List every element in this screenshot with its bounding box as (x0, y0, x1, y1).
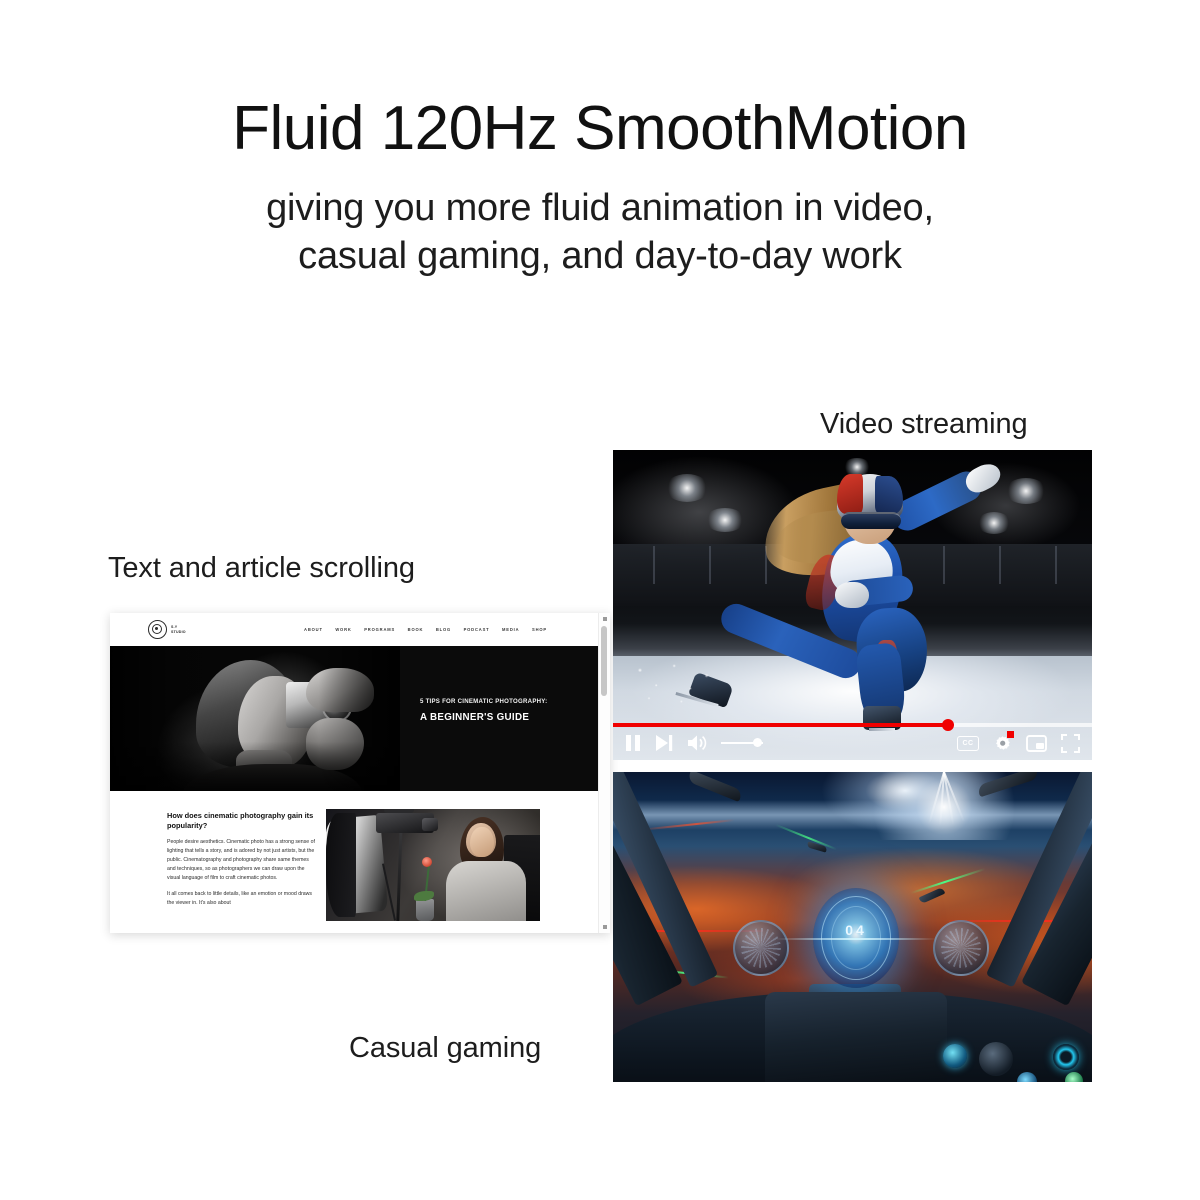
arena-spotlight-5 (977, 512, 1011, 534)
article-scrolling-mockup[interactable]: S.Y STUDIO ABOUT WORK PROGRAMS BOOK BLOG… (110, 613, 610, 933)
article-text-column: How does cinematic photography gain its … (167, 811, 315, 915)
nav-link-about[interactable]: ABOUT (304, 627, 323, 632)
skater-forward-glove (835, 582, 869, 608)
article-hero-title: A BEGINNER'S GUIDE (420, 712, 590, 723)
article-hero-kicker: 5 TIPS FOR CINEMATIC PHOTOGRAPHY: (420, 698, 590, 706)
article-body: How does cinematic photography gain its … (110, 803, 599, 933)
studio-photo (326, 809, 540, 921)
site-logo-text: S.Y STUDIO (171, 625, 186, 635)
photographer-photo (110, 646, 400, 791)
settings-gear-icon[interactable] (993, 734, 1012, 753)
skater-helmet-stripe-red (837, 474, 863, 514)
next-track-icon[interactable] (655, 734, 673, 752)
caption-video-streaming: Video streaming (820, 408, 1028, 441)
nav-link-podcast[interactable]: PODCAST (464, 627, 490, 632)
closed-captions-icon[interactable]: CC (957, 736, 979, 751)
skater-goggles (841, 512, 901, 529)
caption-casual-gaming: Casual gaming (349, 1032, 541, 1065)
rink-post-2 (709, 546, 711, 584)
studio-person-body (446, 861, 526, 921)
engine-orb-right (933, 920, 989, 976)
video-controls-left[interactable] (625, 734, 763, 752)
console-dial-cyan[interactable] (1053, 1044, 1079, 1070)
rink-post-4 (943, 546, 945, 584)
video-streaming-player[interactable]: CC (613, 450, 1092, 760)
cockpit-console[interactable] (765, 992, 947, 1082)
volume-icon[interactable] (687, 734, 707, 752)
site-logo-line-2: STUDIO (171, 630, 186, 634)
scroll-down-arrow-icon[interactable] (603, 925, 607, 929)
subtitle-line-2: casual gaming, and day-to-day work (0, 232, 1200, 281)
nav-link-blog[interactable]: BLOG (436, 627, 451, 632)
concentric-circles-logo-icon (148, 620, 167, 639)
scroll-up-arrow-icon[interactable] (603, 617, 607, 621)
hud-readout-value: 04 (813, 922, 899, 938)
photo-vignette (110, 646, 400, 791)
volume-slider[interactable] (721, 736, 763, 750)
rose-flower (422, 857, 432, 867)
nav-link-work[interactable]: WORK (335, 627, 351, 632)
article-paragraph-2: It all comes back to little details, lik… (167, 890, 315, 908)
page-subtitle: giving you more fluid animation in video… (0, 184, 1200, 281)
video-camera-lens (422, 818, 438, 831)
arena-spotlight-1 (665, 474, 709, 502)
site-logo[interactable]: S.Y STUDIO (148, 620, 186, 639)
nav-link-media[interactable]: MEDIA (502, 627, 519, 632)
arena-spotlight-2 (705, 508, 745, 532)
hero-text-block: Fluid 120Hz SmoothMotion giving you more… (0, 96, 1200, 281)
nav-link-shop[interactable]: SHOP (532, 627, 547, 632)
hud-lens-flare (775, 938, 937, 940)
engine-orb-left (733, 920, 789, 976)
browser-scrollbar[interactable] (598, 613, 610, 933)
caption-text-and-article-scrolling: Text and article scrolling (108, 552, 415, 585)
video-camera-mic (384, 809, 414, 813)
console-dial-grey[interactable] (979, 1042, 1013, 1076)
scrollbar-thumb[interactable] (601, 626, 607, 696)
console-dial-teal[interactable] (943, 1044, 967, 1068)
article-hero-banner: 5 TIPS FOR CINEMATIC PHOTOGRAPHY: A BEGI… (110, 646, 599, 791)
rink-post-1 (653, 546, 655, 584)
video-controls-right[interactable]: CC (957, 734, 1080, 753)
article-heading: How does cinematic photography gain its … (167, 811, 315, 831)
softbox-back (326, 813, 356, 917)
arena-spotlight-4 (1005, 478, 1047, 504)
rink-post-5 (999, 546, 1001, 584)
settings-new-badge (1007, 731, 1014, 738)
subtitle-line-1: giving you more fluid animation in video… (0, 184, 1200, 233)
nav-link-book[interactable]: BOOK (408, 627, 424, 632)
page-title: Fluid 120Hz SmoothMotion (0, 96, 1200, 162)
site-nav-links[interactable]: ABOUT WORK PROGRAMS BOOK BLOG PODCAST ME… (304, 627, 547, 632)
article-hero-text: 5 TIPS FOR CINEMATIC PHOTOGRAPHY: A BEGI… (420, 698, 590, 723)
site-logo-line-1: S.Y (171, 625, 177, 629)
ice-spray-particles (631, 654, 721, 708)
casual-gaming-screenshot[interactable]: 04 (613, 772, 1092, 1082)
glass-vase (416, 899, 434, 921)
pause-icon[interactable] (625, 734, 641, 752)
article-paragraph-1: People desire aesthetics. Cinematic phot… (167, 838, 315, 883)
miniplayer-icon[interactable] (1026, 735, 1047, 752)
nav-link-programs[interactable]: PROGRAMS (364, 627, 395, 632)
rink-post-6 (1055, 546, 1057, 584)
video-control-bar[interactable]: CC (613, 727, 1092, 760)
fullscreen-icon[interactable] (1061, 734, 1080, 753)
site-navbar[interactable]: S.Y STUDIO ABOUT WORK PROGRAMS BOOK BLOG… (110, 613, 599, 646)
browser-viewport[interactable]: S.Y STUDIO ABOUT WORK PROGRAMS BOOK BLOG… (110, 613, 599, 933)
volume-slider-handle[interactable] (753, 738, 762, 747)
studio-person-face (470, 827, 494, 857)
